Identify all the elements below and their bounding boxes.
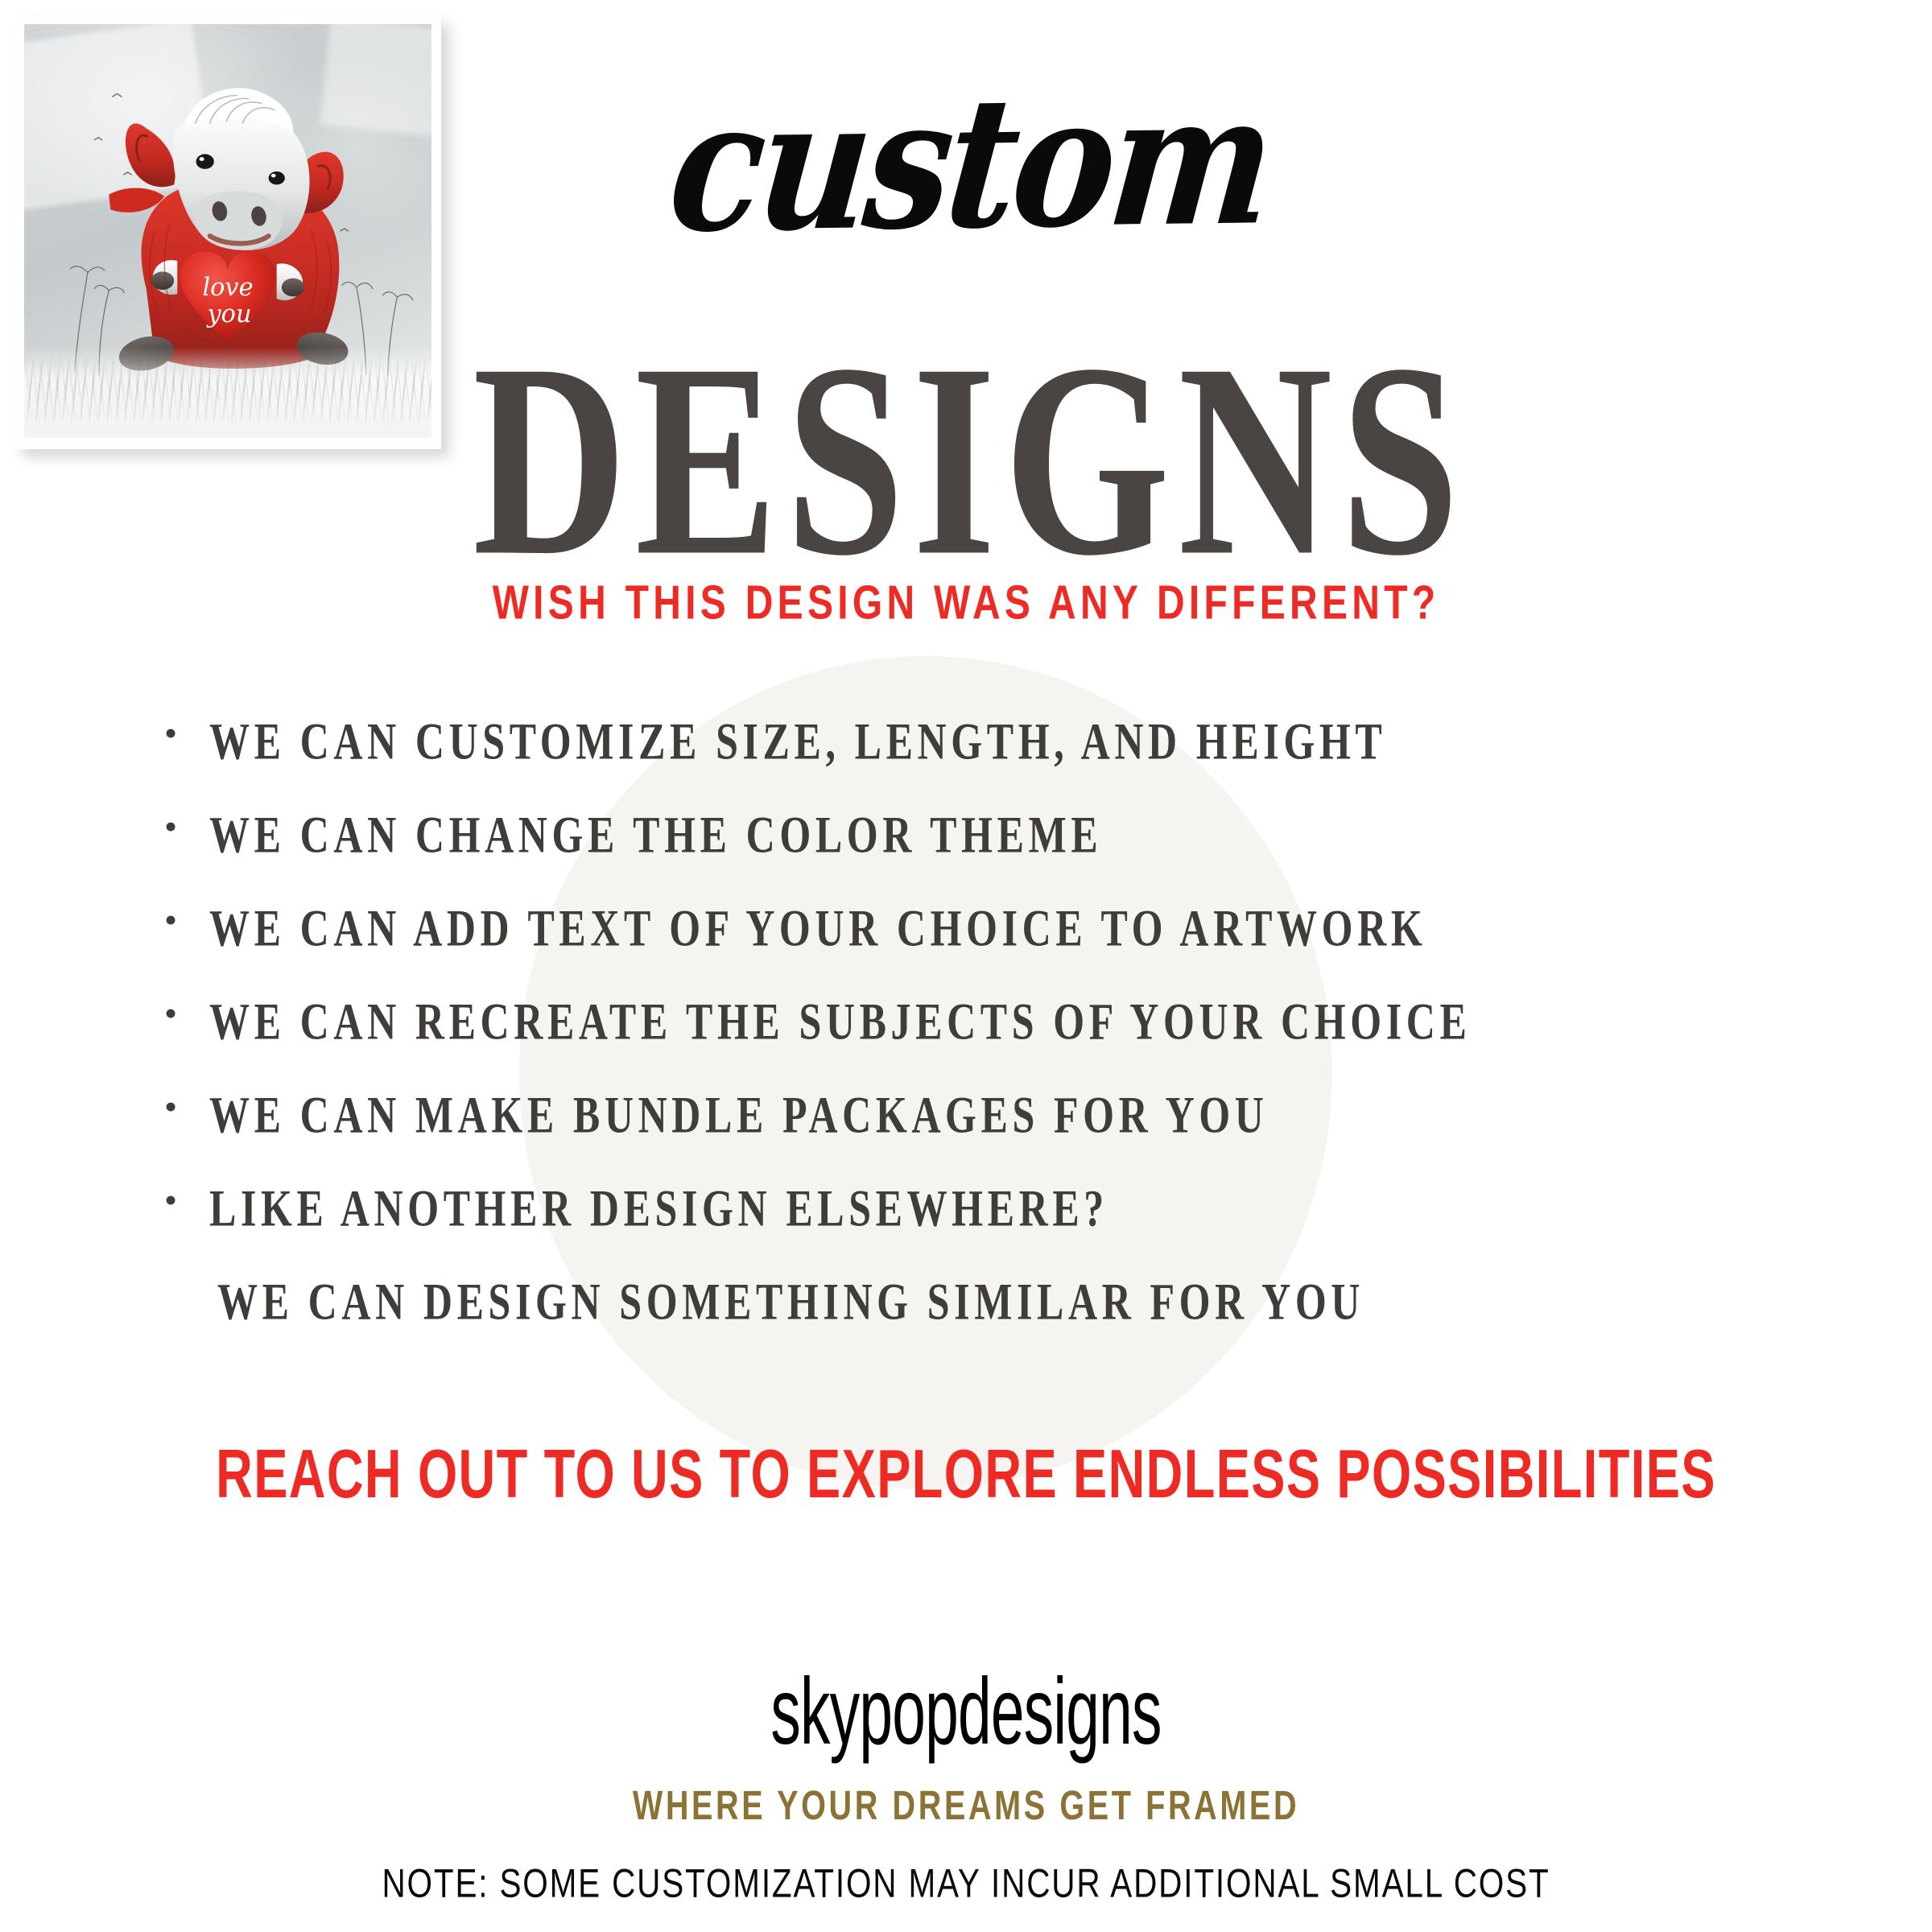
list-item-label: WE CAN ADD TEXT OF YOUR CHOICE TO ARTWOR… xyxy=(209,895,1426,960)
bullet-dot-icon: • xyxy=(161,708,209,758)
bullet-dot-icon: • xyxy=(161,895,209,945)
cow-eye-left xyxy=(196,154,214,169)
page-title-designs: DESIGNS xyxy=(436,322,1504,598)
bullet-dot-icon: • xyxy=(161,989,209,1038)
cta-text[interactable]: REACH OUT TO US TO EXPLORE ENDLESS POSSI… xyxy=(68,1435,1864,1513)
cow-ear-left xyxy=(126,123,175,187)
poster-canvas: love you xyxy=(0,0,1932,1932)
list-item: • WE CAN RECREATE THE SUBJECTS OF YOUR C… xyxy=(161,989,1819,1082)
heart-text-love: love xyxy=(202,274,253,302)
list-item: • LIKE ANOTHER DESIGN ELSEWHERE? xyxy=(161,1175,1819,1269)
list-item: • WE CAN CHANGE THE COLOR THEME xyxy=(161,802,1819,895)
list-item-label: WE CAN CHANGE THE COLOR THEME xyxy=(209,802,1102,867)
script-title-custom: custom xyxy=(437,67,1502,260)
cow-hoof-left xyxy=(151,271,174,290)
list-item-label: LIKE ANOTHER DESIGN ELSEWHERE? xyxy=(209,1175,1108,1241)
bullet-dot-icon: • xyxy=(161,802,209,852)
list-item-continuation: WE CAN DESIGN SOMETHING SIMILAR FOR YOU xyxy=(161,1269,1819,1365)
cow-eye-right xyxy=(269,171,285,184)
list-item-label: WE CAN MAKE BUNDLE PACKAGES FOR YOU xyxy=(209,1082,1268,1147)
features-list: • WE CAN CUSTOMIZE SIZE, LENGTH, AND HEI… xyxy=(161,708,1819,1365)
subtitle-question: WISH THIS DESIGN WAS ANY DIFFERENT? xyxy=(39,575,1893,630)
bullet-dot-icon: • xyxy=(161,1175,209,1225)
artwork-ground-texture xyxy=(24,355,431,421)
brand-tagline: WHERE YOUR DREAMS GET FRAMED xyxy=(97,1783,1835,1830)
artwork-canvas: love you xyxy=(24,24,431,438)
disclaimer-note: NOTE: SOME CUSTOMIZATION MAY INCUR ADDIT… xyxy=(77,1861,1855,1907)
list-item: • WE CAN MAKE BUNDLE PACKAGES FOR YOU xyxy=(161,1082,1819,1175)
continuation-label: WE CAN DESIGN SOMETHING SIMILAR FOR YOU xyxy=(209,1269,1364,1334)
heart-text-you: you xyxy=(206,300,252,328)
artwork-frame[interactable]: love you xyxy=(14,16,441,449)
list-item: • WE CAN ADD TEXT OF YOUR CHOICE TO ARTW… xyxy=(161,895,1819,989)
list-item: • WE CAN CUSTOMIZE SIZE, LENGTH, AND HEI… xyxy=(161,708,1819,802)
list-item-label: WE CAN RECREATE THE SUBJECTS OF YOUR CHO… xyxy=(209,989,1471,1054)
cow-hoof-right xyxy=(282,279,304,297)
bullet-dot-icon: • xyxy=(161,1082,209,1132)
brand-name: skypopdesigns xyxy=(213,1658,1719,1766)
list-item-label: WE CAN CUSTOMIZE SIZE, LENGTH, AND HEIGH… xyxy=(209,708,1386,774)
